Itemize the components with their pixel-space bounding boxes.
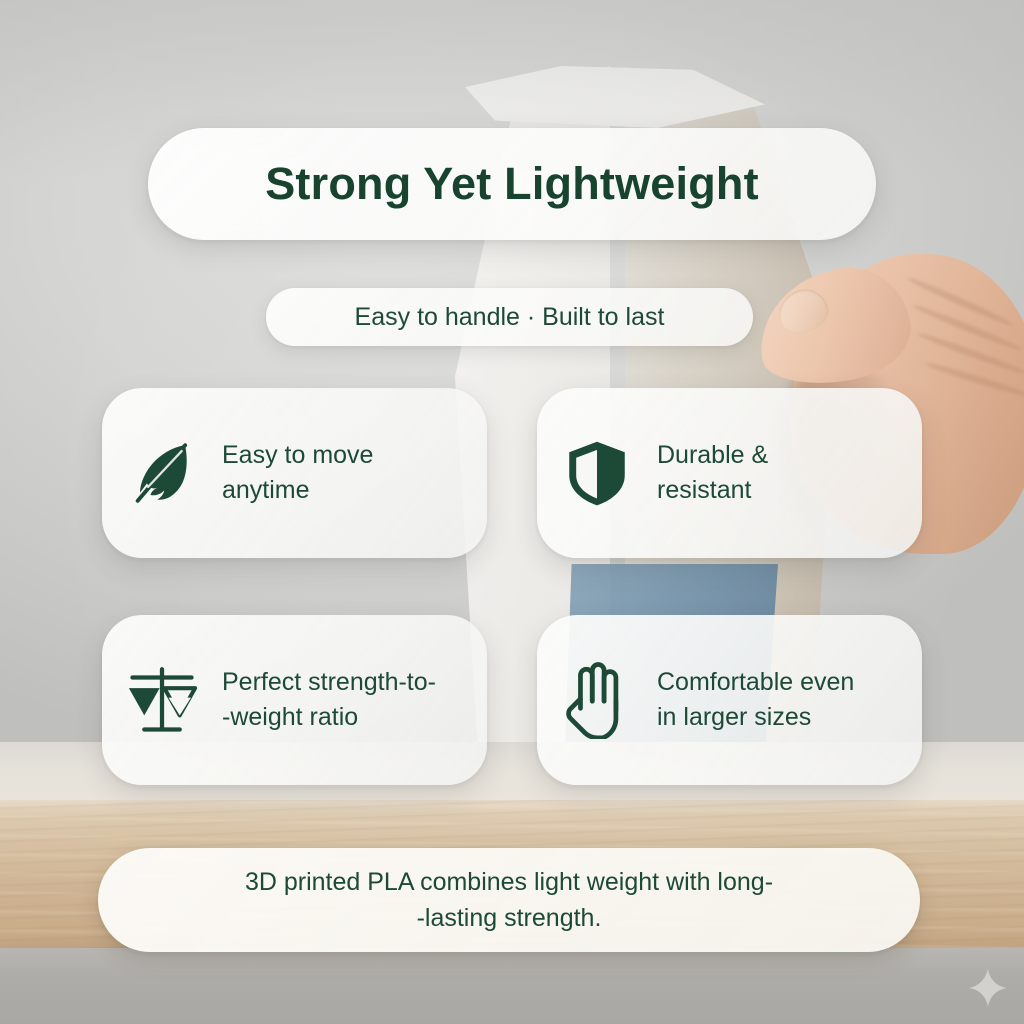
page-title: Strong Yet Lightweight — [265, 158, 759, 210]
subtitle-pill: Easy to handle · Built to last — [266, 288, 753, 346]
feature-card-durable[interactable]: Durable & resistant — [537, 388, 922, 558]
hand-icon — [537, 661, 657, 739]
footer-text: 3D printed PLA combines light weight wit… — [245, 864, 773, 937]
shield-icon — [537, 436, 657, 510]
page-subtitle: Easy to handle · Built to last — [355, 303, 665, 332]
feather-icon — [102, 436, 222, 510]
feature-label: Perfect strength-to- -weight ratio — [222, 665, 436, 736]
feature-card-strength-to-weight[interactable]: Perfect strength-to- -weight ratio — [102, 615, 487, 785]
footer-banner: 3D printed PLA combines light weight wit… — [98, 848, 920, 952]
balance-scale-icon — [102, 662, 222, 738]
poster-canvas: Strong Yet Lightweight Easy to handle · … — [0, 0, 1024, 1024]
feature-label: Comfortable even in larger sizes — [657, 665, 854, 736]
feature-card-easy-to-move[interactable]: Easy to move anytime — [102, 388, 487, 558]
feature-label: Durable & resistant — [657, 438, 768, 509]
feature-label: Easy to move anytime — [222, 438, 373, 509]
title-pill: Strong Yet Lightweight — [148, 128, 876, 240]
background-floor — [0, 948, 1024, 1024]
feature-card-comfortable[interactable]: Comfortable even in larger sizes — [537, 615, 922, 785]
sparkle-icon — [966, 966, 1010, 1010]
